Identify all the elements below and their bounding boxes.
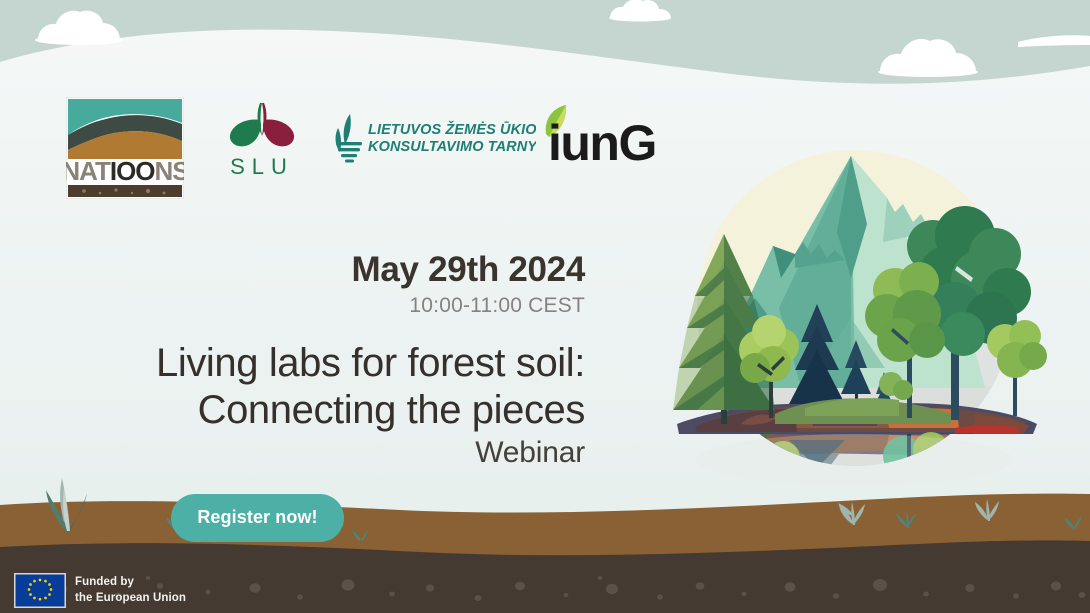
eu-funding-line1: Funded by <box>75 575 186 591</box>
register-button-wrapper: Register now! <box>40 494 585 542</box>
svg-text:iunG: iunG <box>548 115 656 166</box>
eu-funding-text: Funded by the European Union <box>75 575 186 606</box>
eu-funding-line2: the European Union <box>75 591 186 607</box>
svg-text:NATIOONS: NATIOONS <box>66 156 184 186</box>
forest-illustration <box>655 128 1055 488</box>
cloud-right-base <box>878 67 978 77</box>
webinar-poster: NATIOONS SLU <box>0 0 1090 613</box>
svg-text:KONSULTAVIMO TARNYBA: KONSULTAVIMO TARNYBA <box>368 139 536 155</box>
cloud-mid-base <box>609 15 671 22</box>
cloud-left-base <box>35 35 123 45</box>
event-text-block: May 29th 2024 10:00-11:00 CEST Living la… <box>40 252 585 542</box>
event-title-line2: Connecting the pieces <box>40 387 585 434</box>
eu-funding-badge: Funded by the European Union <box>14 573 186 608</box>
logo-lzukt[interactable]: LIETUVOS ŽEMĖS ŪKIO KONSULTAVIMO TARNYBA <box>326 112 536 164</box>
logo-slu[interactable]: SLU <box>216 100 308 180</box>
event-title: Living labs for forest soil: Connecting … <box>40 340 585 434</box>
event-subtitle: Webinar <box>40 436 585 470</box>
lzukt-leaf-mark <box>336 114 362 163</box>
event-date: May 29th 2024 <box>40 252 585 289</box>
event-title-line1: Living labs for forest soil: <box>40 340 585 387</box>
event-time: 10:00-11:00 CEST <box>40 293 585 318</box>
eu-flag-icon <box>14 573 66 608</box>
logo-natioons[interactable]: NATIOONS <box>66 97 184 199</box>
slu-petal-right <box>263 120 294 147</box>
slu-petal-left <box>230 120 261 147</box>
register-now-button[interactable]: Register now! <box>171 494 343 542</box>
svg-text:SLU: SLU <box>230 154 294 179</box>
svg-text:LIETUVOS ŽEMĖS ŪKIO: LIETUVOS ŽEMĖS ŪKIO <box>368 120 536 138</box>
